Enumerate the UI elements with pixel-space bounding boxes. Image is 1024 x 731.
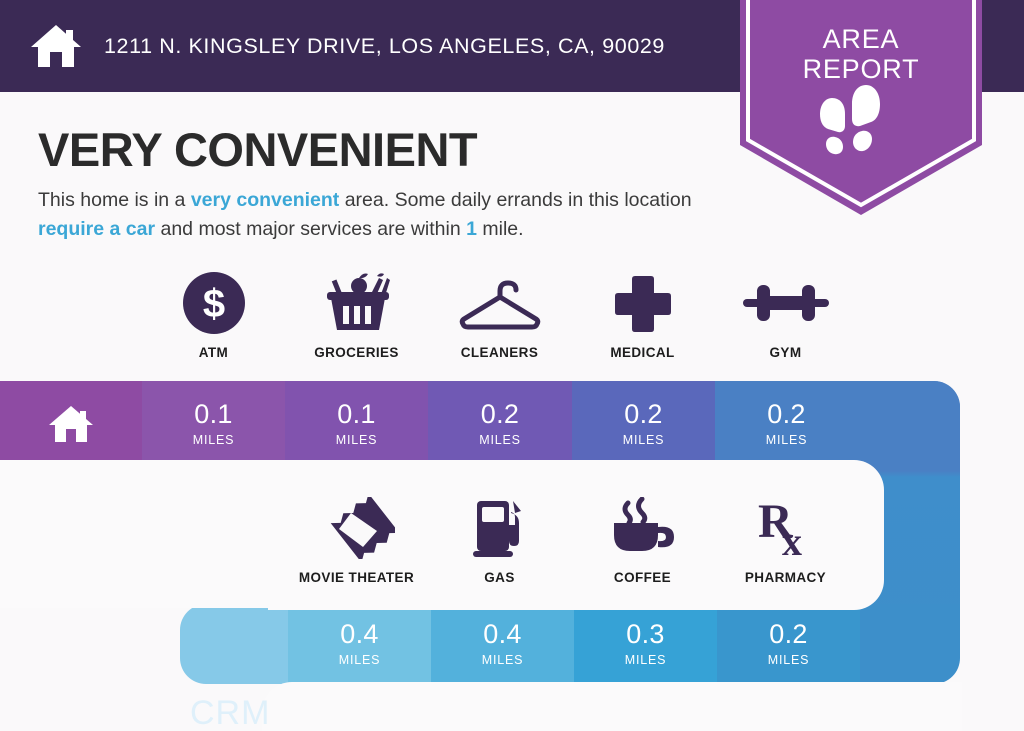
amenity-pharmacy[interactable]: R x PHARMACY (714, 497, 857, 585)
svg-text:x: x (782, 519, 802, 559)
distance-unit: MILES (766, 433, 808, 447)
distance-value: 0.2 (624, 401, 662, 428)
bar-cell-atm: 0.1 MILES (142, 381, 285, 466)
bar-cell-movie-theater: 0.4 MILES (288, 604, 431, 684)
distance-value: 0.1 (337, 401, 375, 428)
background-panel-bottom (262, 682, 962, 731)
bar-cell-gas: 0.4 MILES (431, 604, 574, 684)
distance-value: 0.2 (767, 401, 805, 428)
distance-bar-row-2: 0.4 MILES 0.4 MILES 0.3 MILES 0.2 MILES (180, 604, 960, 684)
distance-value: 0.3 (626, 621, 664, 648)
coffee-cup-icon (606, 497, 680, 559)
amenity-label: COFFEE (614, 570, 671, 585)
amenity-label: PHARMACY (745, 570, 826, 585)
distance-value: 0.2 (769, 621, 807, 648)
distance-unit: MILES (482, 653, 524, 667)
badge-line-1: AREA (740, 24, 982, 54)
area-report-badge: AREA REPORT (740, 0, 982, 215)
distance-value: 0.1 (194, 401, 232, 428)
icon-spacer-2 (0, 497, 285, 585)
bar-cell-groceries: 0.1 MILES (285, 381, 428, 466)
bar-cell-coffee: 0.3 MILES (574, 604, 717, 684)
bar-cell-medical: 0.2 MILES (572, 381, 715, 466)
bar-cell-cleaners: 0.2 MILES (428, 381, 572, 466)
distance-bar-row-1: 0.1 MILES 0.1 MILES 0.2 MILES 0.2 MILES … (0, 381, 960, 466)
bar-home-cell (0, 381, 142, 466)
distance-unit: MILES (193, 433, 235, 447)
amenity-icon-row-2: MOVIE THEATER GAS (0, 497, 1024, 585)
distance-value: 0.4 (340, 621, 378, 648)
gas-pump-icon (469, 497, 531, 559)
amenity-movie-theater[interactable]: MOVIE THEATER (285, 497, 428, 585)
bar-cell-lead (180, 604, 288, 684)
amenity-coffee[interactable]: COFFEE (571, 497, 714, 585)
badge-text: AREA REPORT (740, 24, 982, 84)
distance-unit: MILES (336, 433, 378, 447)
distance-value: 0.2 (481, 401, 519, 428)
distance-unit: MILES (339, 653, 381, 667)
bar-cell-tail-2 (860, 604, 960, 684)
ticket-icon (319, 497, 395, 559)
badge-line-2: REPORT (740, 54, 982, 84)
distance-unit: MILES (479, 433, 521, 447)
watermark-text: CRM (190, 694, 270, 731)
bar-cell-pharmacy: 0.2 MILES (717, 604, 860, 684)
distance-unit: MILES (623, 433, 665, 447)
distance-unit: MILES (768, 653, 810, 667)
amenity-label: GAS (484, 570, 514, 585)
area-report-page: 1211 N. KINGSLEY DRIVE, LOS ANGELES, CA,… (0, 0, 1024, 731)
amenity-gas[interactable]: GAS (428, 497, 571, 585)
distance-unit: MILES (625, 653, 667, 667)
rx-icon: R x (756, 497, 816, 559)
distance-value: 0.4 (483, 621, 521, 648)
amenity-label: MOVIE THEATER (299, 570, 414, 585)
